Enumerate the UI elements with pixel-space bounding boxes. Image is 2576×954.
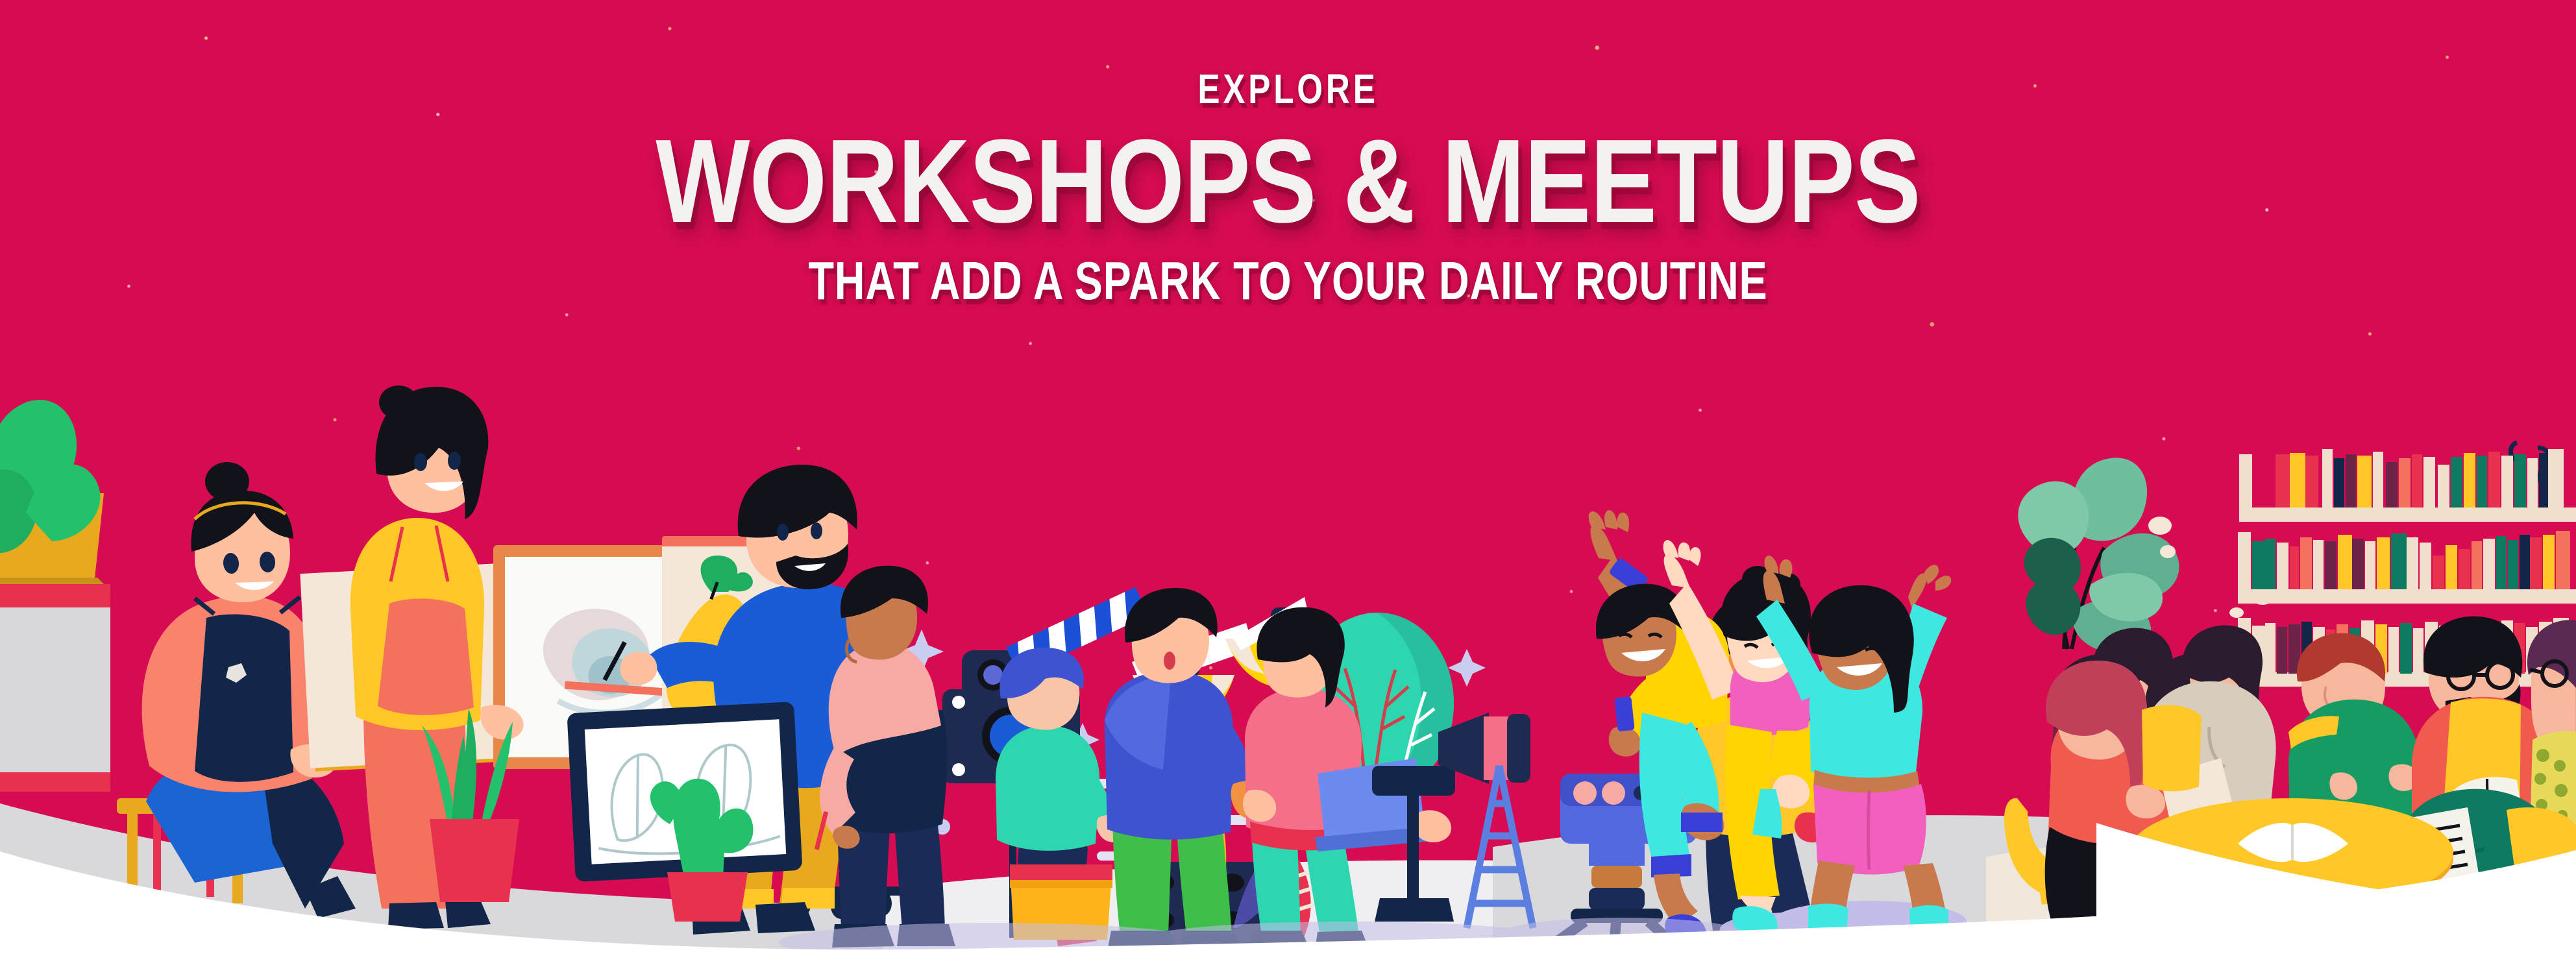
shelf-2-books bbox=[2252, 531, 2570, 589]
page-title: WORKSHOPS & MEETUPS bbox=[206, 124, 2370, 238]
headline-block: EXPLORE WORKSHOPS & MEETUPS THAT ADD A S… bbox=[0, 68, 2576, 308]
eyebrow-text: EXPLORE bbox=[258, 68, 2318, 110]
reader-with-glasses bbox=[2527, 620, 2576, 837]
promo-banner: EXPLORE WORKSHOPS & MEETUPS THAT ADD A S… bbox=[0, 0, 2576, 954]
bookshelves bbox=[2238, 449, 2576, 687]
potted-plant-left bbox=[0, 400, 104, 584]
shelf-1-books bbox=[2275, 449, 2564, 508]
subtitle-text: THAT ADD A SPARK TO YOUR DAILY ROUTINE bbox=[284, 254, 2293, 308]
book-club-scene bbox=[2004, 443, 2576, 954]
fiddle-leaf-plant bbox=[2018, 458, 2179, 654]
